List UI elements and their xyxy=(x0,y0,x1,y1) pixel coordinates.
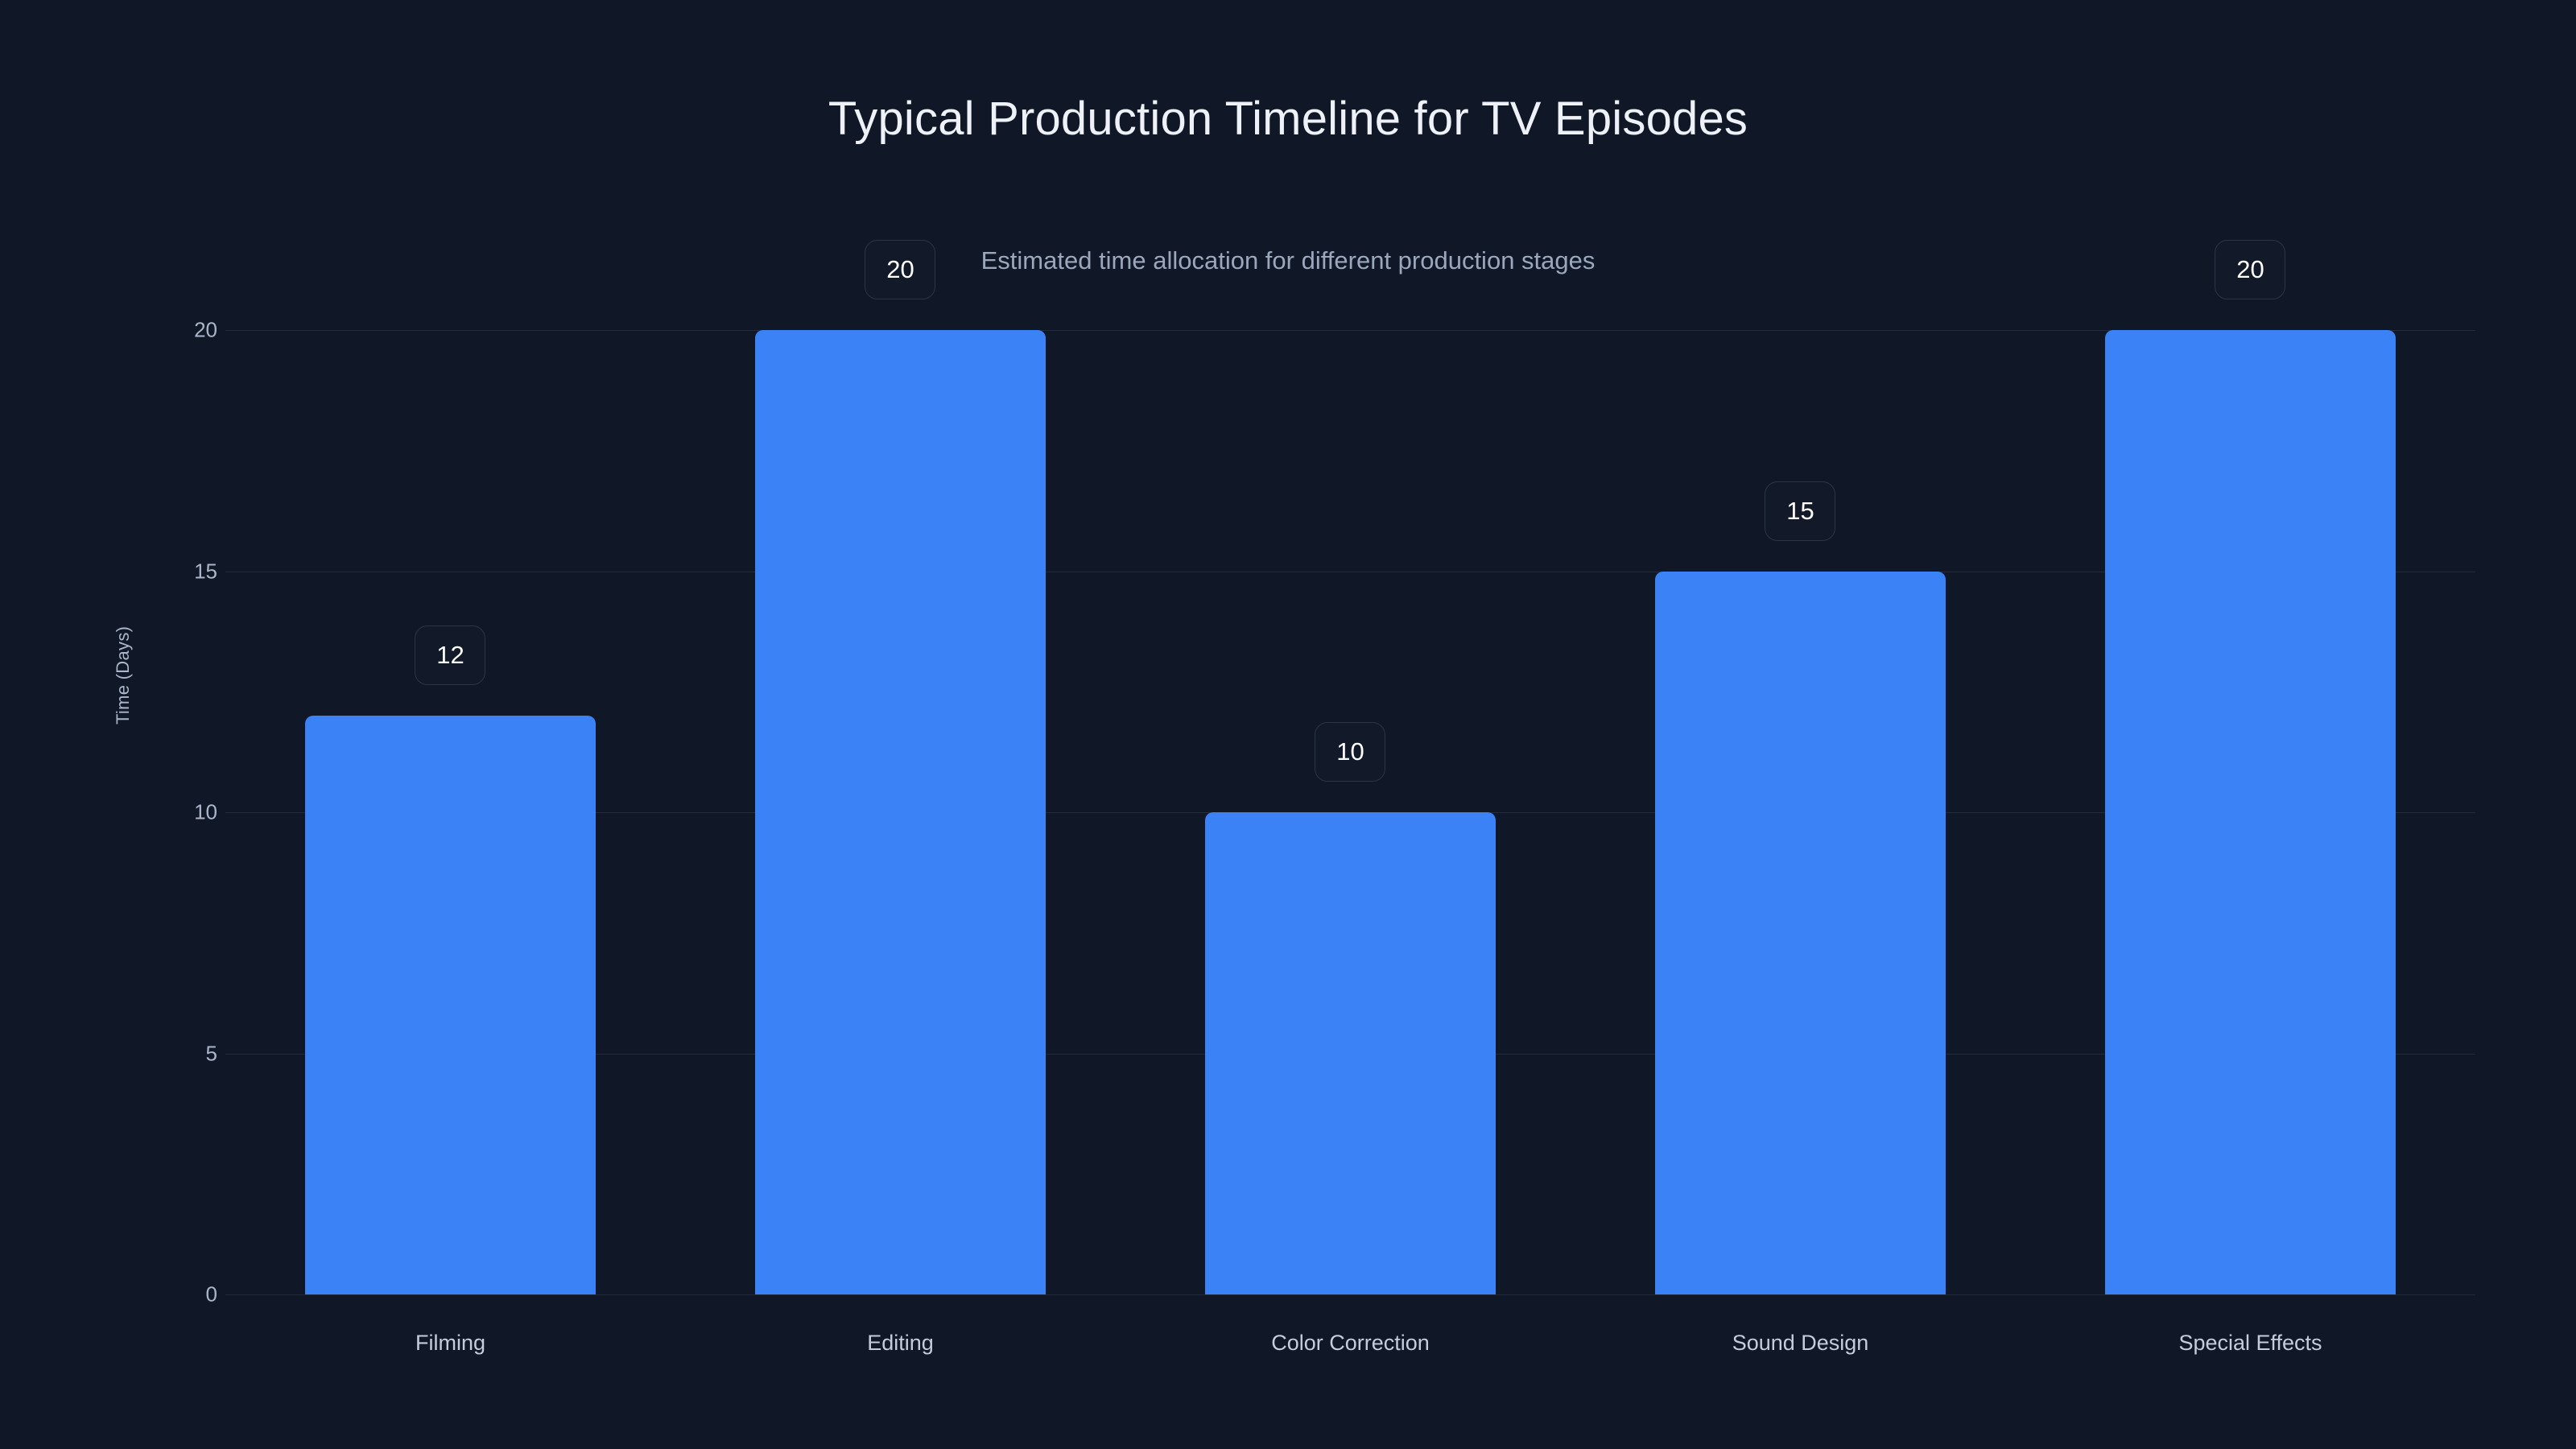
bar-value-badge: 10 xyxy=(1315,722,1385,782)
x-axis-tick-label: Color Correction xyxy=(1271,1331,1430,1356)
gridline xyxy=(225,1294,2475,1295)
bar-value-badge: 12 xyxy=(415,625,485,685)
y-axis-title: Time (Days) xyxy=(113,626,134,724)
bar-chart-canvas: Typical Production Timeline for TV Episo… xyxy=(0,0,2576,1449)
x-axis-tick-label: Special Effects xyxy=(2178,1331,2322,1356)
bar-sound-design[interactable] xyxy=(1655,572,1946,1295)
bar-group: 12 xyxy=(305,330,596,1294)
x-axis-tick-label: Filming xyxy=(415,1331,485,1356)
y-axis-tick-label: 10 xyxy=(177,800,217,825)
y-axis-tick-label: 20 xyxy=(177,318,217,343)
bar-editing[interactable] xyxy=(755,330,1046,1294)
bar-color-correction[interactable] xyxy=(1205,812,1496,1294)
bar-group: 20 xyxy=(755,330,1046,1294)
x-axis-tick-label: Editing xyxy=(867,1331,934,1356)
plot-area: 05101520 1220101520 FilmingEditingColor … xyxy=(225,330,2475,1294)
bar-special-effects[interactable] xyxy=(2105,330,2396,1294)
x-axis-tick-label: Sound Design xyxy=(1732,1331,1869,1356)
bars-layer: 1220101520 xyxy=(225,330,2475,1294)
y-axis-tick-label: 5 xyxy=(177,1041,217,1066)
chart-title: Typical Production Timeline for TV Episo… xyxy=(0,92,2576,146)
bar-value-badge: 20 xyxy=(2215,240,2285,299)
bar-value-badge: 20 xyxy=(865,240,935,299)
bar-value-badge: 15 xyxy=(1765,481,1835,541)
bar-filming[interactable] xyxy=(305,716,596,1294)
y-axis-tick-label: 0 xyxy=(177,1282,217,1307)
chart-subtitle: Estimated time allocation for different … xyxy=(0,246,2576,275)
bar-group: 20 xyxy=(2105,330,2396,1294)
bar-group: 10 xyxy=(1205,330,1496,1294)
bar-group: 15 xyxy=(1655,330,1946,1294)
y-axis-tick-label: 15 xyxy=(177,559,217,584)
